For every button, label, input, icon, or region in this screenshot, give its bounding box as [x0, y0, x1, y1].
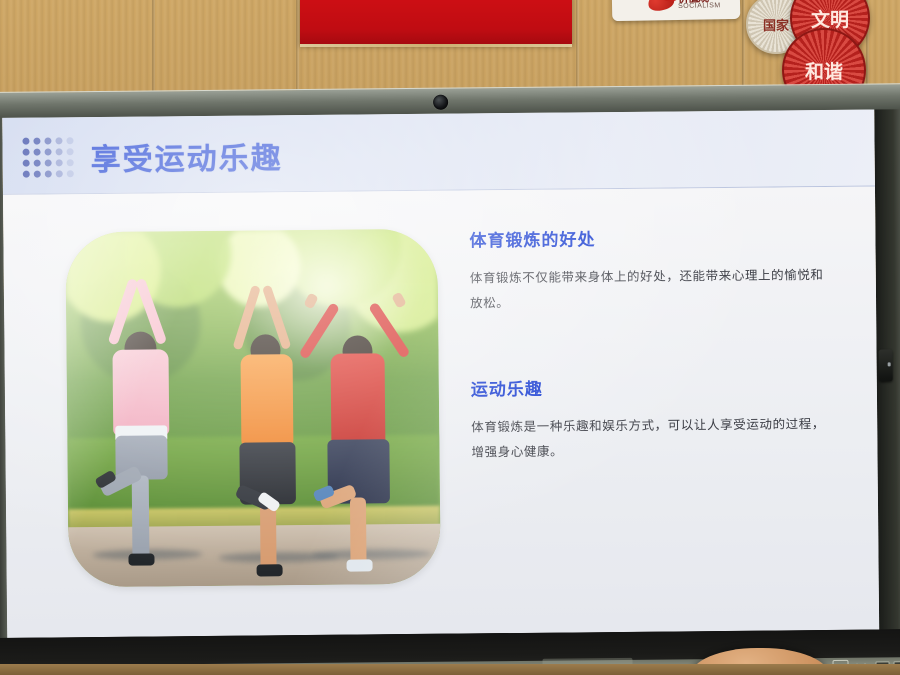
slide-header-band: 享受运动乐趣	[2, 110, 875, 195]
red-wall-banner	[300, 0, 572, 44]
slide-title: 享受运动乐趣	[90, 133, 282, 179]
photo-soft-light	[65, 229, 440, 588]
section-heading-1: 体育锻炼的好处	[469, 223, 829, 251]
screen-slide[interactable]: 享受运动乐趣	[2, 110, 879, 638]
section-body-1: 体育锻炼不仅能带来身体上的好处，还能带来心理上的愉悦和放松。	[470, 262, 830, 315]
interactive-flat-panel[interactable]: 享受运动乐趣	[0, 83, 900, 675]
photo-of-classroom-display: 价值观 SOCIALISM 国家 文明 和谐	[0, 0, 900, 675]
core-values-sign: 价值观 SOCIALISM	[612, 0, 741, 21]
side-pull-tab-button[interactable]	[879, 349, 893, 381]
heart-logo-icon	[646, 0, 675, 13]
section-body-2: 体育锻炼是一种乐趣和娱乐方式，可以让人享受运动的过程，增强身心健康。	[471, 411, 831, 464]
section-heading-2: 运动乐趣	[471, 372, 831, 400]
values-sign-en: SOCIALISM	[678, 2, 721, 10]
floor-strip	[0, 664, 900, 675]
dot-grid-decoration	[22, 137, 77, 182]
slide-body: 体育锻炼的好处 体育锻炼不仅能带来身体上的好处，还能带来心理上的愉悦和放松。 运…	[3, 187, 879, 638]
slide-photo	[65, 229, 440, 588]
camera-icon	[433, 95, 448, 110]
text-column: 体育锻炼的好处 体育锻炼不仅能带来身体上的好处，还能带来心理上的愉悦和放松。 运…	[469, 187, 832, 464]
